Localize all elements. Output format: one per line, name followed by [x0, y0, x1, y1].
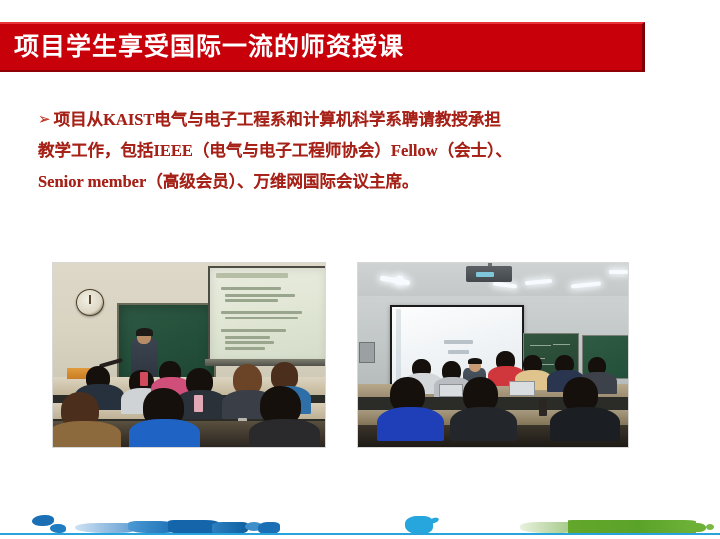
water-bottle	[140, 372, 148, 387]
student-shoulders	[249, 419, 320, 448]
lecturer-hair	[136, 328, 152, 336]
projection-screen	[208, 266, 326, 366]
body-line-3: Senior member（高级会员）、万维网国际会议主席。	[38, 166, 678, 197]
screen-text-line	[221, 329, 286, 332]
photo-left-content	[53, 263, 325, 447]
paint-splatter-blue	[75, 523, 135, 533]
screen-text-line	[225, 317, 298, 319]
bottom-decoration	[0, 499, 720, 539]
screen-text-line	[221, 287, 282, 290]
water-bottle	[194, 395, 202, 412]
screen-text-line	[225, 336, 269, 339]
body-line-1-text: 项目从KAIST电气与电子工程系和计算机科学系聘请教授承担	[54, 110, 501, 129]
screen-edge-shade	[396, 309, 401, 384]
chalk-writing	[530, 345, 551, 346]
laptop	[509, 381, 535, 396]
page-title: 项目学生享受国际一流的师资授课	[0, 35, 404, 60]
ceiling-light	[609, 270, 628, 274]
paint-splatter-green	[706, 524, 714, 530]
classroom-lecture-photo	[52, 262, 326, 448]
student-shoulders	[129, 419, 200, 448]
screen-text-line	[225, 341, 274, 344]
chalk-writing	[553, 344, 569, 345]
paint-splatter-green	[690, 523, 706, 532]
student-shoulders	[52, 421, 121, 448]
chalk-writing	[540, 364, 554, 365]
ceiling-light	[395, 275, 404, 285]
lecturer-hair	[468, 358, 482, 364]
student-shoulders	[377, 407, 445, 442]
screen-text-line	[448, 350, 469, 353]
slide-canvas: 项目学生享受国际一流的师资授课 ➢项目从KAIST电气与电子工程系和计算机科学系…	[0, 0, 720, 539]
body-line-1: ➢项目从KAIST电气与电子工程系和计算机科学系聘请教授承担	[38, 104, 678, 135]
screen-text-line	[225, 299, 278, 302]
laptop	[439, 384, 463, 397]
title-banner: 项目学生享受国际一流的师资授课	[0, 22, 645, 72]
thermos-bottle	[539, 399, 547, 416]
screen-text-line	[221, 311, 303, 314]
paint-splatter-blue	[32, 515, 54, 526]
lecture-hall-photo	[357, 262, 629, 448]
bottom-accent-line	[0, 533, 720, 536]
student-shoulders	[550, 407, 620, 442]
body-line-2: 教学工作，包括IEEE（电气与电子工程师协会）Fellow（会士）、	[38, 135, 678, 166]
screen-frame-bar	[205, 359, 326, 366]
screen-text-line	[225, 294, 295, 297]
ceiling-projector	[466, 266, 512, 283]
screen-text-line	[225, 347, 265, 350]
bullet-arrow-icon: ➢	[38, 110, 54, 128]
student-shoulders	[450, 407, 518, 442]
screen-text-line	[444, 340, 473, 343]
photo-right-content	[358, 263, 628, 447]
screen-slide-title-bar	[216, 273, 289, 279]
wall-clock-icon	[76, 289, 104, 316]
body-text-block: ➢项目从KAIST电气与电子工程系和计算机科学系聘请教授承担 教学工作，包括IE…	[38, 104, 678, 197]
paint-splatter-cyan	[405, 516, 433, 534]
wall-panel	[359, 342, 375, 362]
